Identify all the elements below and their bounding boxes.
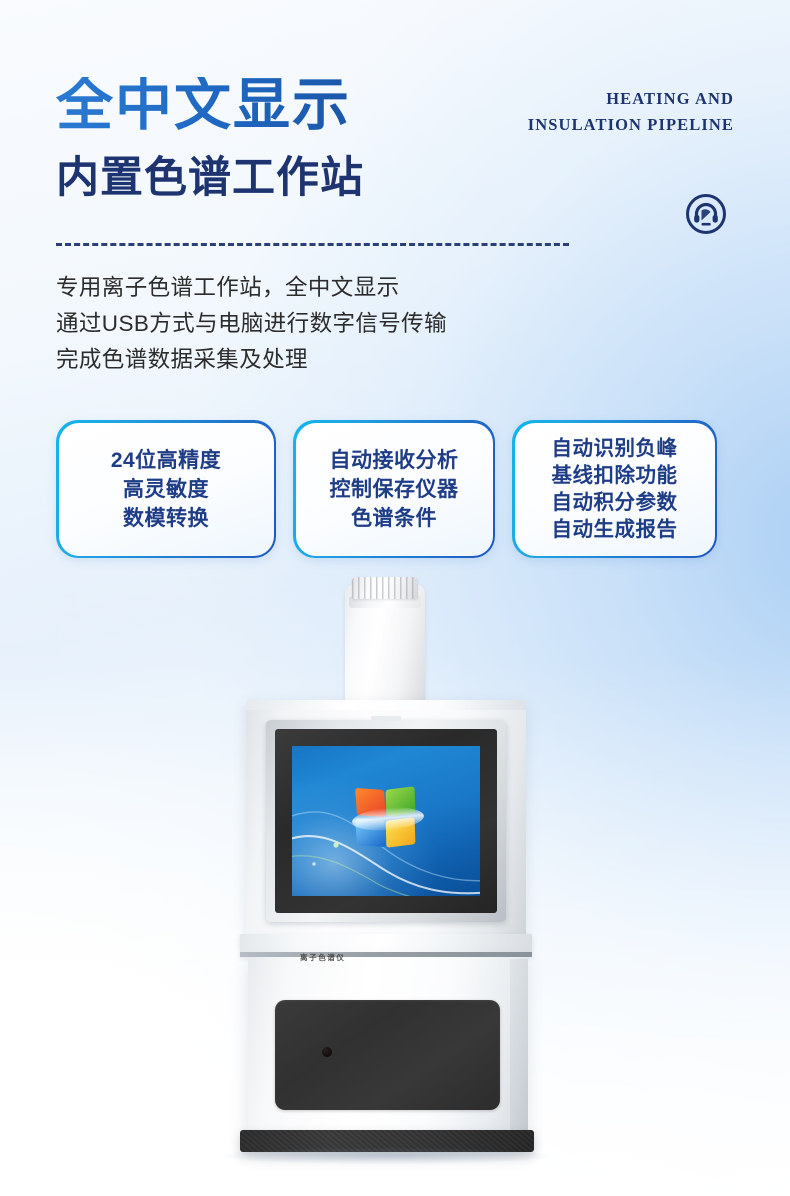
header: 全中文显示 内置色谱工作站 HEATING AND INSULATION PIP… <box>0 0 790 250</box>
floor-shadow <box>224 1148 550 1164</box>
instrument-lower-cabinet-side <box>510 959 528 1145</box>
feature-line: 自动生成报告 <box>552 516 678 543</box>
subtitle-english-line-2: INSULATION PIPELINE <box>404 112 734 138</box>
subtitle-english: HEATING AND INSULATION PIPELINE <box>404 86 734 137</box>
feature-line: 自动识别负峰 <box>552 435 678 462</box>
product-image <box>0 560 790 1196</box>
page-title-secondary: 内置色谱工作站 <box>56 157 364 200</box>
feature-line: 自动接收分析 <box>330 446 459 475</box>
instrument-door-knob[interactable] <box>322 1047 332 1057</box>
feature-card-acquisition[interactable]: 自动接收分析 控制保存仪器 色谱条件 <box>293 420 495 558</box>
feature-card-body: 自动识别负峰 基线扣除功能 自动积分参数 自动生成报告 <box>515 423 715 556</box>
subtitle-english-line-1: HEATING AND <box>404 86 734 112</box>
description-line-2: 通过USB方式与电脑进行数字信号传输 <box>56 306 447 342</box>
product-brand-label: 离子色谱仪 <box>300 952 346 963</box>
feature-line: 24位高精度 <box>111 446 221 475</box>
feature-card-body: 24位高精度 高灵敏度 数模转换 <box>59 423 274 556</box>
feature-card-precision[interactable]: 24位高精度 高灵敏度 数模转换 <box>56 420 276 558</box>
feature-line: 高灵敏度 <box>123 475 209 504</box>
feature-card-list: 24位高精度 高灵敏度 数模转换 自动接收分析 控制保存仪器 色谱条件 自动识别… <box>56 420 734 558</box>
description-block: 专用离子色谱工作站，全中文显示 通过USB方式与电脑进行数字信号传输 完成色谱数… <box>56 270 447 378</box>
monitor-screen[interactable] <box>292 746 480 896</box>
feature-card-reporting[interactable]: 自动识别负峰 基线扣除功能 自动积分参数 自动生成报告 <box>512 420 717 558</box>
feature-line: 基线扣除功能 <box>552 462 678 489</box>
feature-line: 控制保存仪器 <box>330 475 459 504</box>
headset-icon <box>684 192 728 236</box>
description-line-1: 专用离子色谱工作站，全中文显示 <box>56 270 447 306</box>
instrument-upper-lip <box>246 700 526 710</box>
eluent-bottle-cap <box>352 577 418 599</box>
feature-line: 色谱条件 <box>351 504 437 533</box>
windows-logo-icon <box>356 788 420 850</box>
monitor-notch <box>371 716 401 721</box>
feature-card-body: 自动接收分析 控制保存仪器 色谱条件 <box>296 423 493 556</box>
divider <box>56 243 569 246</box>
description-line-3: 完成色谱数据采集及处理 <box>56 342 447 378</box>
page-title-primary: 全中文显示 <box>56 77 351 134</box>
feature-line: 数模转换 <box>123 504 209 533</box>
instrument-door-panel[interactable] <box>275 1000 500 1110</box>
feature-line: 自动积分参数 <box>552 489 678 516</box>
